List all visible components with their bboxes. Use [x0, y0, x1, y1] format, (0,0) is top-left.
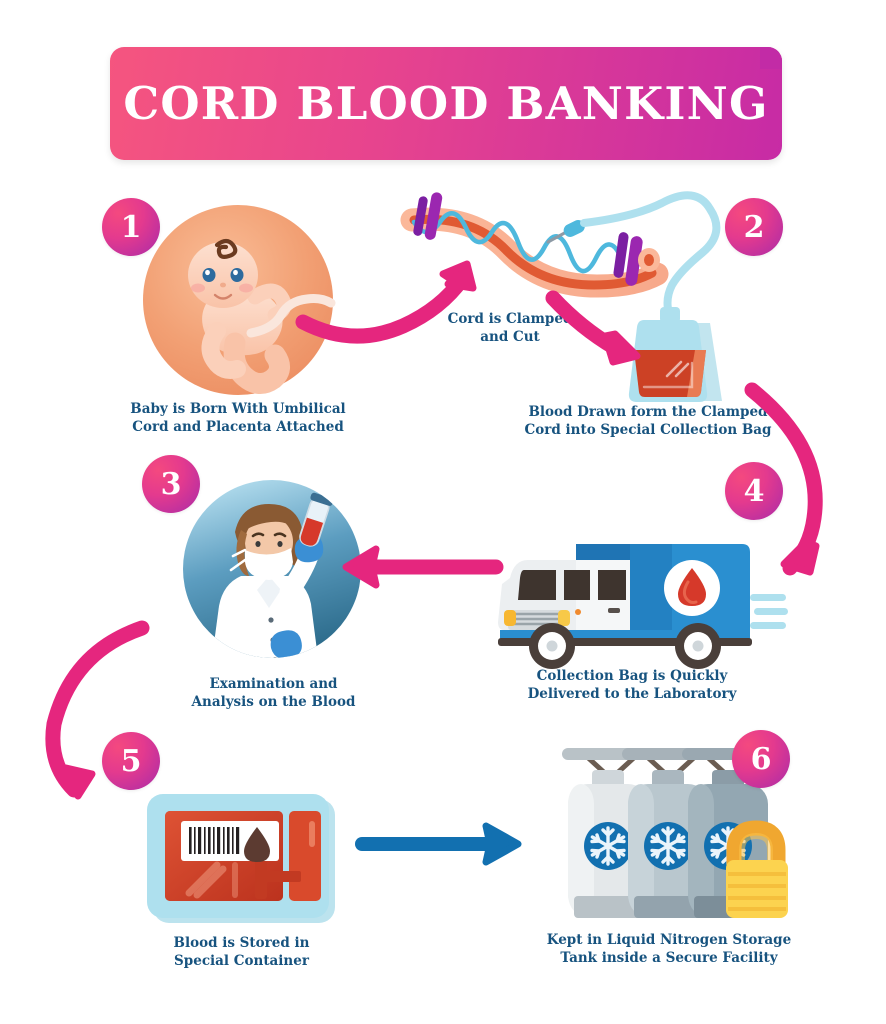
infographic-page: CORD BLOOD BANKING [0, 0, 886, 1024]
delivery-truck-illustration [480, 520, 780, 680]
step-caption-6: Kept in Liquid Nitrogen Storage Tank ins… [524, 932, 814, 968]
step-badge-2: 2 [725, 198, 783, 256]
step-storage-container: Blood is Stored in Special Container [143, 791, 339, 926]
step-caption-1: Baby is Born With Umbilical Cord and Pla… [103, 401, 373, 437]
speed-line [754, 608, 788, 615]
step-examination: Examination and Analysis on the Blood [183, 480, 361, 658]
step-caption-5: Blood is Stored in Special Container [129, 935, 354, 971]
arrow-cord-to-bag [545, 290, 670, 380]
step-badge-6: 6 [732, 730, 790, 788]
blood-container-illustration [143, 791, 339, 926]
step-caption-4: Collection Bag is Quickly Delivered to t… [502, 668, 762, 704]
step-badge-5: 5 [102, 732, 160, 790]
step-delivery: Collection Bag is Quickly Delivered to t… [480, 520, 780, 680]
step-badge-4: 4 [725, 462, 783, 520]
banner-fold-notch [760, 47, 782, 69]
lab-technician-illustration [183, 480, 361, 658]
step-badge-1: 1 [102, 198, 160, 256]
speed-line [750, 594, 786, 601]
speed-line [750, 622, 786, 629]
arrow-step4-to-step3 [336, 545, 504, 593]
step-badge-3: 3 [142, 455, 200, 513]
page-title: CORD BLOOD BANKING [123, 81, 768, 126]
arrow-step5-to-step6 [358, 822, 533, 870]
step-caption-3: Examination and Analysis on the Blood [161, 676, 386, 712]
title-banner: CORD BLOOD BANKING [110, 47, 782, 160]
